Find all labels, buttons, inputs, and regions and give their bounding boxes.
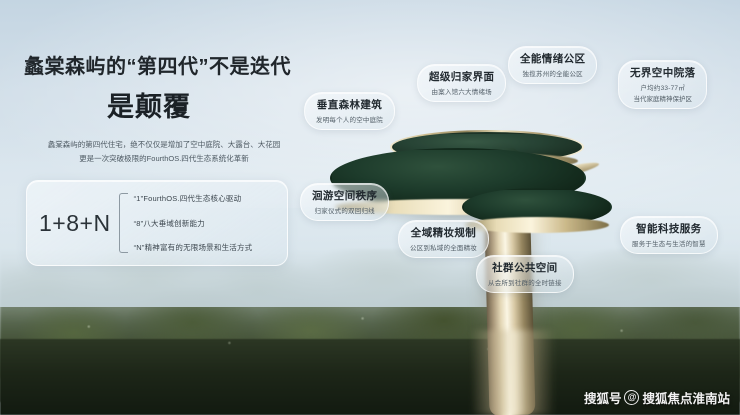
callout-title: 垂直森林建筑	[316, 97, 383, 112]
callout-title: 无界空中院落	[630, 65, 695, 80]
callout-title: 全能情绪公区	[520, 51, 585, 66]
headline-block: 蠡棠森屿的“第四代”不是迭代 是颠覆 蠡棠森屿的第四代住宅，绝不仅仅是增加了空中…	[24, 50, 324, 166]
watermark-prefix: 搜狐号	[584, 388, 622, 407]
subtext-line-2: 更是一次突破极限的FourthOS.四代生态系统化革新	[24, 152, 304, 166]
headline-secondary: 是颠覆	[24, 85, 274, 124]
callout-sky-courtyard: 无界空中院落 户均约33-77㎡ 当代家庭精神保护区	[618, 60, 707, 109]
callout-flow-order: 洄游空间秩序 归家仪式的双回归线	[300, 183, 389, 221]
callout-vertical-forest: 垂直森林建筑 发明每个人的空中庭院	[304, 92, 395, 130]
formula-number: 1+8+N	[39, 210, 111, 237]
callout-community-space: 社群公共空间 从会所到社群的全时链接	[476, 255, 574, 293]
brace-icon	[119, 193, 128, 253]
callout-desc: 发明每个人的空中庭院	[316, 114, 383, 124]
callout-title: 全域精妆规制	[410, 225, 477, 240]
callout-refined-standard: 全域精妆规制 公区到私域的全面精妆	[398, 220, 489, 258]
headline-subtext: 蠡棠森屿的第四代住宅，绝不仅仅是增加了空中庭院、大露台、大花园 更是一次突破极限…	[24, 138, 304, 166]
callout-desc: 从会所到社群的全时链接	[488, 277, 562, 287]
callout-desc-secondary: 当代家庭精神保护区	[630, 93, 695, 103]
callout-desc: 户均约33-77㎡	[630, 82, 695, 92]
formula-item: “8”八大垂域创新能力	[134, 218, 277, 229]
formula-item: “N”精神富有的无限场景和生活方式	[134, 242, 277, 253]
watermark-suffix: 搜狐焦点淮南站	[642, 388, 730, 407]
callout-home-interface: 超级归家界面 由案入馆六大情绪场	[417, 64, 506, 102]
callout-desc: 服务于生态与生活的智慧	[632, 238, 706, 248]
formula-item: “1”FourthOS.四代生态核心驱动	[134, 193, 277, 204]
subtext-line-1: 蠡棠森屿的第四代住宅，绝不仅仅是增加了空中庭院、大露台、大花园	[24, 138, 304, 152]
callout-desc: 公区到私域的全面精妆	[410, 242, 477, 252]
formula-item-list: “1”FourthOS.四代生态核心驱动 “8”八大垂域创新能力 “N”精神富有…	[134, 193, 277, 253]
promo-poster: 蠡棠森屿的“第四代”不是迭代 是颠覆 蠡棠森屿的第四代住宅，绝不仅仅是增加了空中…	[0, 0, 740, 415]
callout-title: 洄游空间秩序	[312, 188, 377, 203]
watermark: 搜狐号 @ 搜狐焦点淮南站	[584, 388, 730, 407]
tree-branch	[540, 201, 607, 219]
formula-card: 1+8+N “1”FourthOS.四代生态核心驱动 “8”八大垂域创新能力 “…	[26, 180, 288, 266]
callout-emotion-commons: 全能情绪公区 独揽苏州的全能公区	[508, 46, 597, 84]
canopy-surface	[462, 188, 612, 226]
callout-desc: 归家仪式的双回归线	[312, 205, 377, 215]
canopy-rim	[460, 186, 614, 228]
at-icon: @	[624, 390, 639, 405]
callout-title: 智能科技服务	[632, 221, 706, 236]
callout-smart-service: 智能科技服务 服务于生态与生活的智慧	[620, 216, 718, 254]
callout-title: 社群公共空间	[488, 260, 562, 275]
forest-highlights	[0, 296, 740, 399]
callout-desc: 由案入馆六大情绪场	[429, 86, 494, 96]
headline-primary: 蠡棠森屿的“第四代”不是迭代	[24, 50, 324, 79]
canopy-disc-lower	[462, 188, 612, 226]
callout-title: 超级归家界面	[429, 69, 494, 84]
tree-branch	[445, 168, 517, 198]
callout-desc: 独揽苏州的全能公区	[520, 68, 585, 78]
